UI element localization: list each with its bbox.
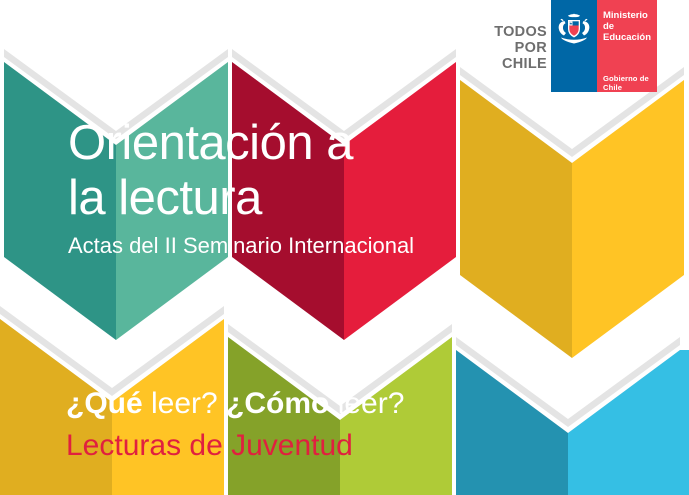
slogan-todos-por-chile: TODOS POR CHILE [485,24,547,72]
ministry-line-1: Ministerio de [603,10,657,32]
slogan-line-3: CHILE [485,56,547,72]
government-label: Gobierno de Chile [603,74,657,92]
ministry-label: Ministerio de Educación [603,10,657,43]
chile-coat-of-arms-icon [555,12,593,46]
slogan-line-2: POR [485,40,547,56]
chile-flag-block: Ministerio de Educación Gobierno de Chil… [551,0,657,92]
book-cover: Orientación a la lectura Actas del II Se… [0,0,689,495]
ministry-line-2: Educación [603,32,657,43]
government-logo: TODOS POR CHILE [485,0,657,95]
slogan-line-1: TODOS [485,24,547,40]
